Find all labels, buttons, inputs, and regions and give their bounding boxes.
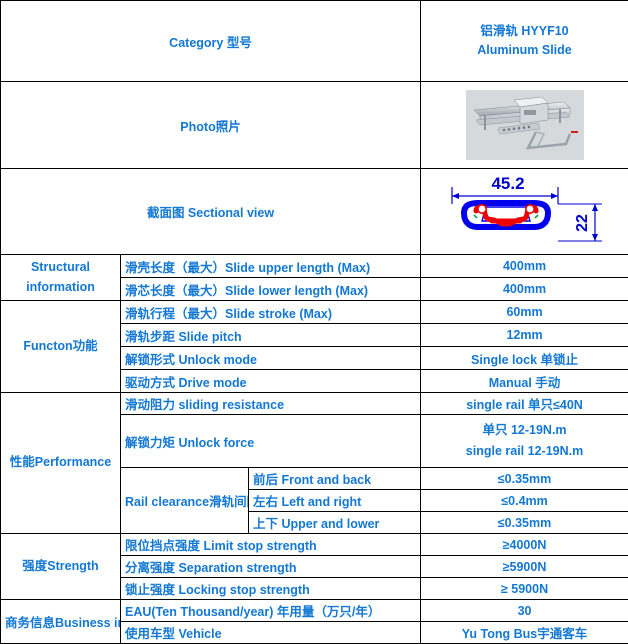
subrow-value: ≤0.35mm — [421, 468, 628, 490]
height-dimension-text: 22 — [574, 214, 591, 232]
row-label: 滑轨步距 Slide pitch — [121, 324, 421, 347]
cross-section-drawing-icon: 45.2 22 — [430, 171, 620, 249]
row-label: EAU(Ten Thousand/year) 年用量（万只/年） — [121, 600, 421, 622]
table-row-limit-stop-strength: 强度Strength 限位挡点强度 Limit stop strength ≥4… — [1, 534, 628, 556]
sectional-view-label: 截面图 Sectional view — [1, 169, 421, 255]
row-value: 12mm — [421, 324, 628, 347]
row-label: 滑轨行程（最大）Slide stroke (Max) — [121, 301, 421, 324]
subrow-label: 左右 Left and right — [249, 490, 421, 512]
row-label: 滑芯长度（最大）Slide lower length (Max) — [121, 278, 421, 301]
group-label-structural-line2: information — [5, 278, 116, 297]
row-value: 60mm — [421, 301, 628, 324]
sectional-view-cell: 45.2 22 — [421, 169, 628, 255]
group-label-structural: Structural information — [1, 255, 121, 301]
row-value: Yu Tong Bus宇通客车 — [421, 622, 628, 644]
subrow-label: 上下 Upper and lower — [249, 512, 421, 534]
subrow-value: ≤0.4mm — [421, 490, 628, 512]
table-row-slide-stroke: Functon功能 滑轨行程（最大）Slide stroke (Max) 60m… — [1, 301, 628, 324]
row-value: Single lock 单锁止 — [421, 347, 628, 370]
row-label: 解锁力矩 Unlock force — [121, 415, 421, 468]
table-row-slide-upper-length: Structural information 滑壳长度（最大）Slide upp… — [1, 255, 628, 278]
row-label: 滑壳长度（最大）Slide upper length (Max) — [121, 255, 421, 278]
slide-rail-photo-icon — [466, 90, 584, 160]
subrow-label: 前后 Front and back — [249, 468, 421, 490]
row-value: 400mm — [421, 278, 628, 301]
row-label: 滑动阻力 sliding resistance — [121, 393, 421, 415]
width-dimension-text: 45.2 — [491, 174, 524, 193]
group-label-structural-line1: Structural — [5, 258, 116, 277]
photo-cell — [421, 82, 628, 169]
group-label-performance: 性能Performance — [1, 393, 121, 534]
row-value-line2: single rail 12-19N.m — [425, 441, 624, 462]
row-label: 使用车型 Vehicle — [121, 622, 421, 644]
row-value: 单只 12-19N.m single rail 12-19N.m — [421, 415, 628, 468]
row-value: ≥ 5900N — [421, 578, 628, 600]
row-value: Manual 手动 — [421, 370, 628, 393]
specification-table: Category 型号 铝滑轨 HYYF10 Aluminum Slide Ph… — [0, 0, 628, 644]
category-value: 铝滑轨 HYYF10 Aluminum Slide — [421, 1, 628, 82]
row-label: 限位挡点强度 Limit stop strength — [121, 534, 421, 556]
row-value-line1: 单只 12-19N.m — [425, 420, 624, 441]
row-value: ≥4000N — [421, 534, 628, 556]
row-value: single rail 单只≤40N — [421, 393, 628, 415]
subrow-value: ≤0.35mm — [421, 512, 628, 534]
row-value: ≥5900N — [421, 556, 628, 578]
table-row-sectional: 截面图 Sectional view 45.2 — [1, 169, 628, 255]
row-label-rail-clearance: Rail clearance滑轨间隙 — [121, 468, 249, 534]
category-label: Category 型号 — [1, 1, 421, 82]
photo-label: Photo照片 — [1, 82, 421, 169]
row-label: 分离强度 Separation strength — [121, 556, 421, 578]
table-row-category: Category 型号 铝滑轨 HYYF10 Aluminum Slide — [1, 1, 628, 82]
category-value-line1: 铝滑轨 HYYF10 — [425, 22, 624, 41]
category-value-line2: Aluminum Slide — [425, 41, 624, 60]
table-row-photo: Photo照片 — [1, 82, 628, 169]
table-row-sliding-resistance: 性能Performance 滑动阻力 sliding resistance si… — [1, 393, 628, 415]
table-row-eau: 商务信息Business information EAU(Ten Thousan… — [1, 600, 628, 622]
group-label-strength: 强度Strength — [1, 534, 121, 600]
row-value: 400mm — [421, 255, 628, 278]
group-label-function: Functon功能 — [1, 301, 121, 393]
row-value: 30 — [421, 600, 628, 622]
row-label: 驱动方式 Drive mode — [121, 370, 421, 393]
group-label-business: 商务信息Business information — [1, 600, 121, 644]
row-label: 解锁形式 Unlock mode — [121, 347, 421, 370]
row-label: 锁止强度 Locking stop strength — [121, 578, 421, 600]
